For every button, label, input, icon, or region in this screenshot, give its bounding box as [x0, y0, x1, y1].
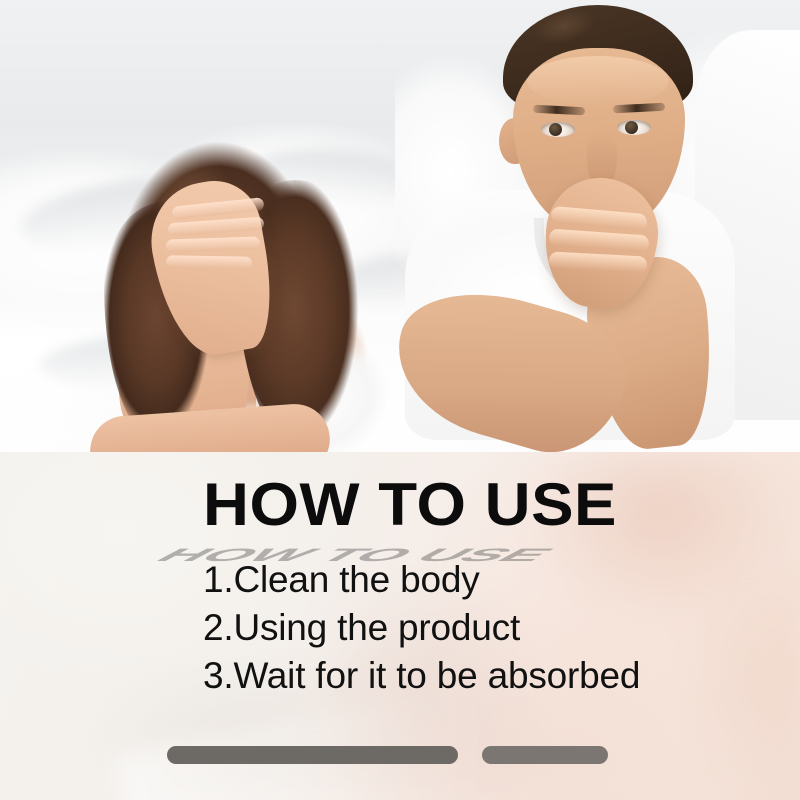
carousel-indicators[interactable] — [167, 746, 608, 764]
man-iris-right — [625, 121, 638, 134]
step-item-3: 3.Wait for it to be absorbed — [203, 652, 640, 700]
step-item-1: 1.Clean the body — [203, 556, 640, 604]
man-iris-left — [549, 123, 562, 136]
how-to-use-steps: 1.Clean the body 2.Using the product 3.W… — [203, 556, 640, 700]
panel-title-block: HOW TO USE HOW TO USE — [203, 476, 633, 536]
man-forehead — [527, 56, 669, 106]
how-to-use-banner: HOW TO USE HOW TO USE 1.Clean the body 2… — [0, 0, 800, 800]
step-item-2: 2.Using the product — [203, 604, 640, 652]
carousel-indicator-active[interactable] — [167, 746, 458, 764]
couple-in-bed-photo — [0, 0, 800, 452]
woman-figure — [60, 110, 390, 452]
woman-finger — [166, 255, 252, 269]
man-figure — [395, 0, 800, 452]
page-title: HOW TO USE — [203, 476, 617, 534]
carousel-indicator-inactive[interactable] — [482, 746, 608, 764]
